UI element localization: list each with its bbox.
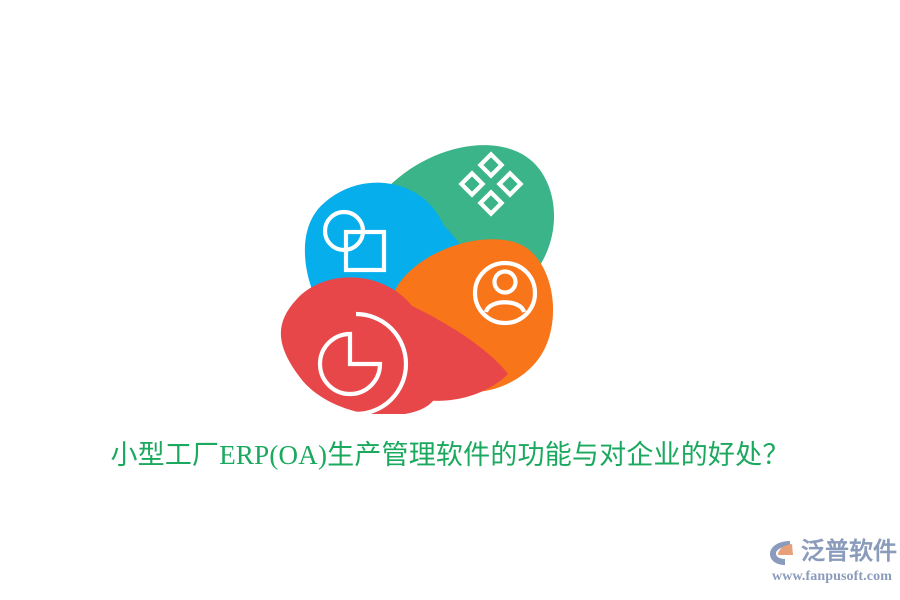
fanpu-circle-arc-logo-icon — [768, 537, 798, 567]
page-canvas: 小型工厂ERP(OA)生产管理软件的功能与对企业的好处？ 泛普软件 www.fa… — [0, 0, 900, 600]
page-title: 小型工厂ERP(OA)生产管理软件的功能与对企业的好处？ — [0, 438, 900, 472]
watermark-url-text: www.fanpusoft.com — [768, 569, 896, 585]
watermark-brand-text: 泛普软件 — [801, 537, 897, 567]
watermark: 泛普软件 www.fanpusoft.com — [768, 536, 896, 590]
watermark-brand-row: 泛普软件 — [768, 536, 896, 568]
hero-logo — [268, 122, 568, 414]
